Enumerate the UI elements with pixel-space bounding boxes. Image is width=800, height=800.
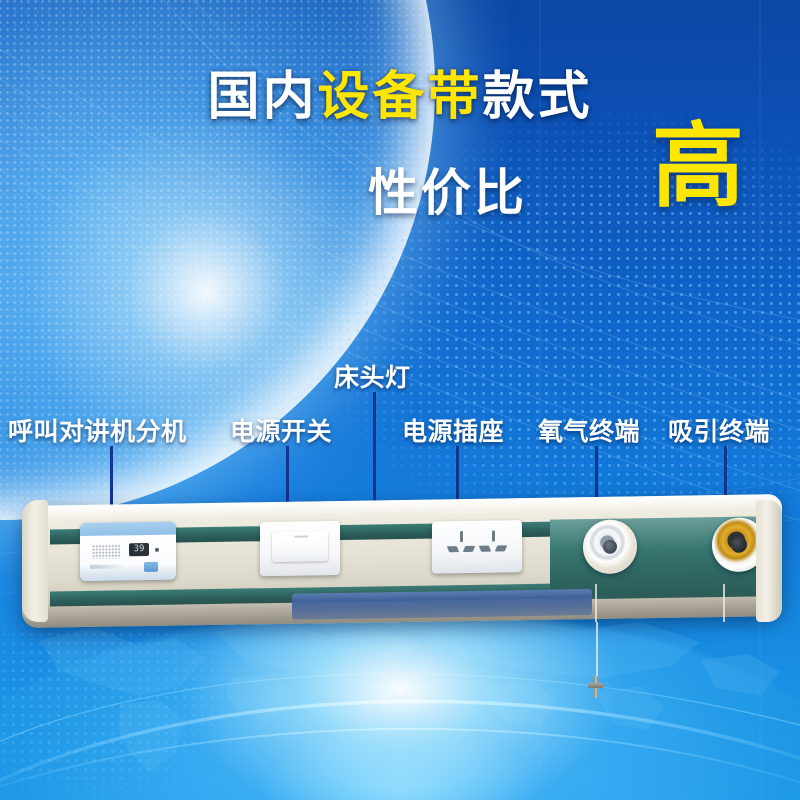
oxygen-terminal-core [603,540,617,554]
socket-pin-vertical [492,531,495,542]
power-switch[interactable] [260,521,340,576]
product-poster: 国内设备带款式 性价比 高 呼叫对讲机分机 电源开关 床头灯 电源插座 氧气终端… [0,0,800,800]
socket-outlet-b[interactable] [478,530,510,561]
callout-highlight-shapes [0,0,800,800]
medical-bed-head-unit: 39 [22,500,782,632]
suction-terminal-cord [723,584,725,622]
oxygen-terminal-cord [595,584,597,622]
suction-terminal-core [731,537,747,553]
intercom-speaker-grille-icon [92,544,120,558]
socket-outlet-a[interactable] [446,531,478,562]
plug-wing [588,683,604,688]
intercom-led-indicator [155,548,159,552]
socket-pin-right [495,545,507,551]
socket-pin-left [447,546,459,552]
intercom-device[interactable]: 39 [80,522,176,582]
socket-pin-vertical [460,531,463,542]
intercom-brand-mark [90,564,126,569]
power-socket[interactable] [432,520,522,573]
intercom-display: 39 [129,543,149,556]
intercom-top-band [80,522,176,537]
rail-end-cap-left [22,500,48,622]
power-switch-rocker[interactable] [272,531,328,562]
socket-pin-right [463,546,475,552]
rail-end-cap-right [756,500,782,622]
rail-body: 39 [22,494,782,628]
cord-connector-plug [588,676,604,698]
intercom-call-button[interactable] [144,562,158,572]
socket-pin-left [479,546,491,552]
callout-group: 呼叫对讲机分机 电源开关 床头灯 电源插座 氧气终端 吸引终端 [0,0,800,800]
